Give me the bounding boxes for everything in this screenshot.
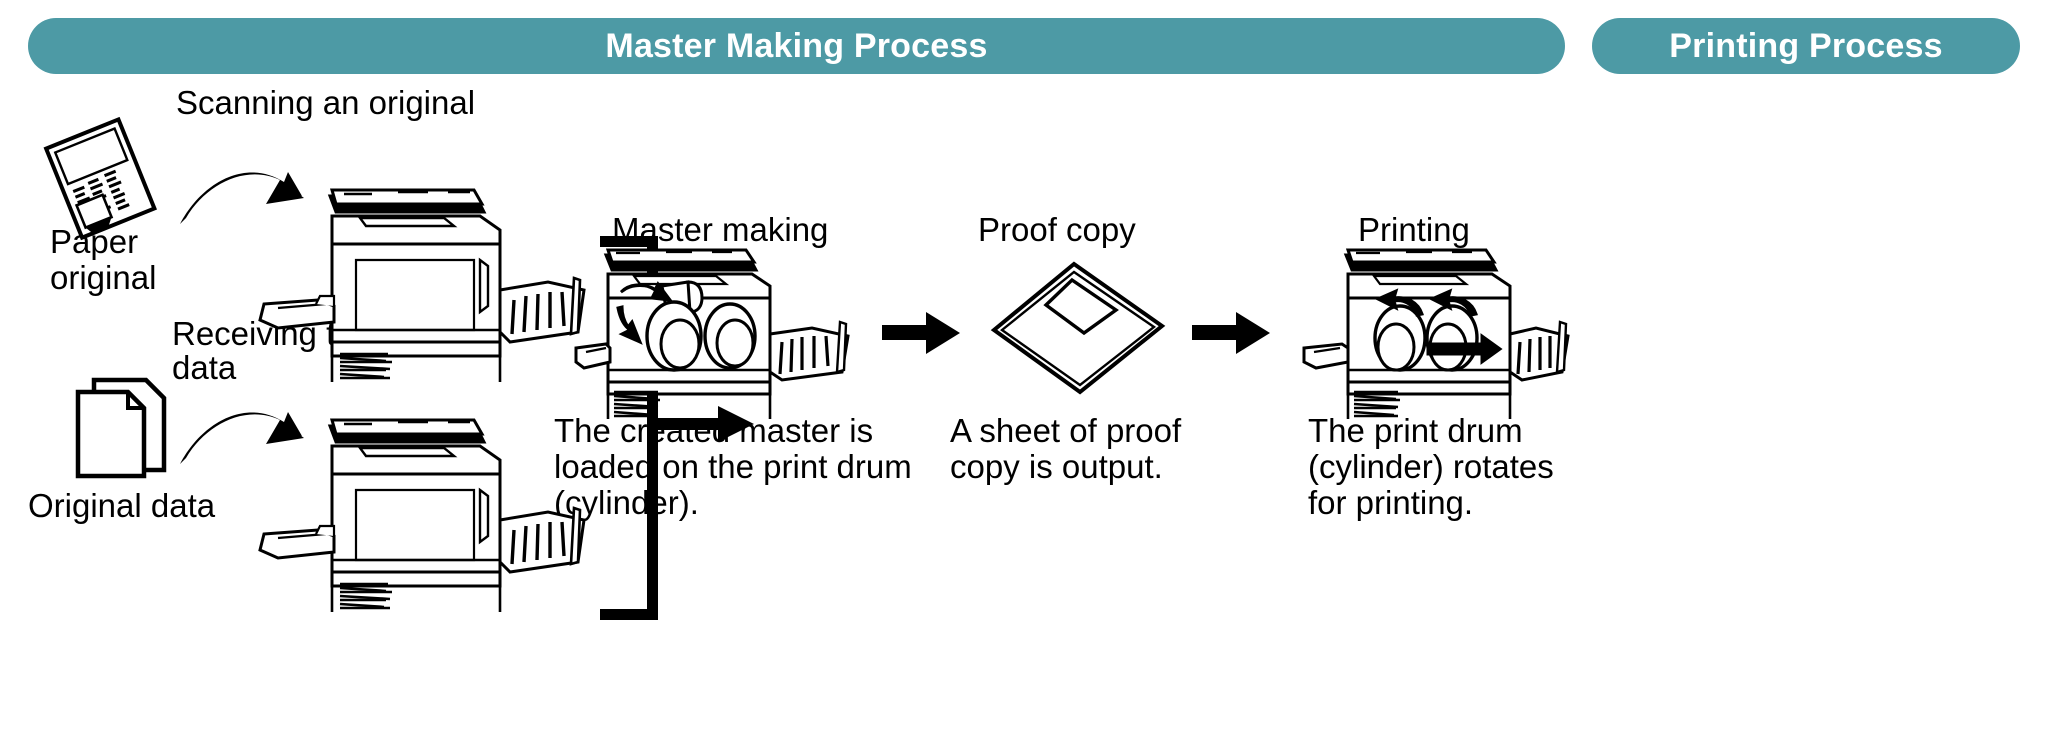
right-arrow-master-to-proof-icon <box>882 310 962 356</box>
step-title-proof-copy: Proof copy <box>978 213 1136 248</box>
diagram-canvas: Master Making Process Printing Process S… <box>0 0 2048 731</box>
duplicator-machine-receiving-icon <box>248 412 588 612</box>
duplicator-master-making-icon <box>576 244 866 419</box>
step-title-printing: Printing <box>1358 213 1470 248</box>
banner-master-making-process: Master Making Process <box>28 18 1565 74</box>
caption-proof-copy-line-2: copy is output. <box>950 448 1163 486</box>
duplicator-machine-scanning-icon <box>248 182 588 382</box>
right-arrow-proof-to-printing-icon <box>1192 310 1272 356</box>
document-stack-icon <box>70 372 180 482</box>
caption-printing-line-2: (cylinder) rotates <box>1308 448 1554 486</box>
banner-printing-process: Printing Process <box>1592 18 2020 74</box>
caption-printing-line-3: for printing. <box>1308 484 1473 522</box>
proof-sheet-icon <box>988 258 1168 398</box>
source-label-paper-original-line-2: original <box>50 261 156 296</box>
step-title-scanning: Scanning an original <box>176 86 475 121</box>
paper-original-icon <box>36 120 166 230</box>
source-label-original-data: Original data <box>28 489 215 524</box>
caption-proof-copy-line-1: A sheet of proof <box>950 412 1181 450</box>
duplicator-printing-icon <box>1280 244 1570 419</box>
